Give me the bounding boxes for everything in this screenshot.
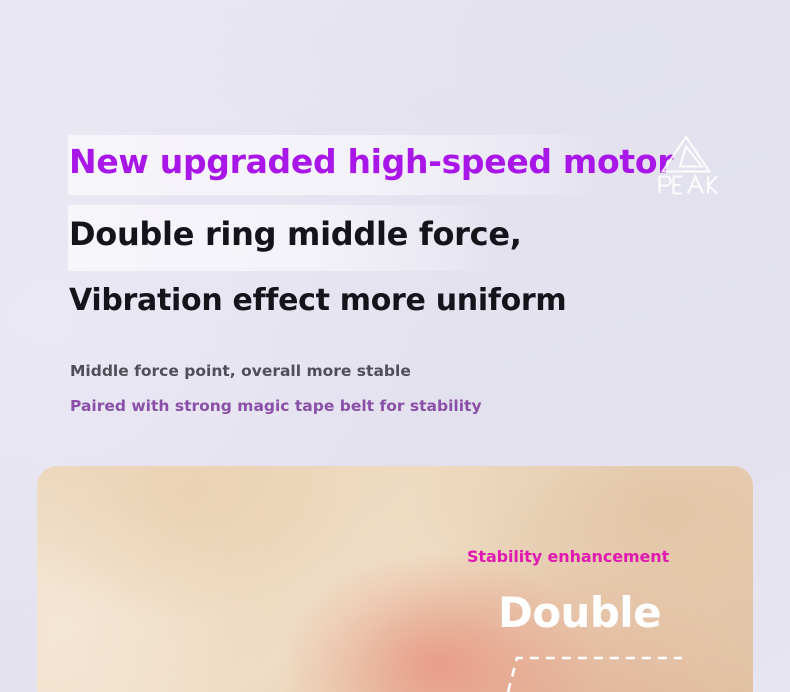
peak-logo (647, 131, 725, 196)
callout-value-double: Double (498, 588, 661, 637)
subheading-line-2: Paired with strong magic tape belt for s… (70, 397, 482, 415)
product-image-card (37, 466, 753, 692)
peak-triangle-icon (663, 137, 710, 172)
callout-label-stability: Stability enhancement (467, 547, 669, 566)
headline-line-2: Double ring middle force, (69, 212, 522, 256)
promo-page: New upgraded high-speed motor Double rin… (0, 0, 790, 692)
headline-line-3: Vibration effect more uniform (69, 280, 566, 322)
peak-wordmark (660, 177, 718, 194)
subheading-line-1: Middle force point, overall more stable (70, 362, 411, 380)
card-sheen-overlay (37, 466, 753, 692)
headline-line-1: New upgraded high-speed motor (69, 140, 673, 184)
